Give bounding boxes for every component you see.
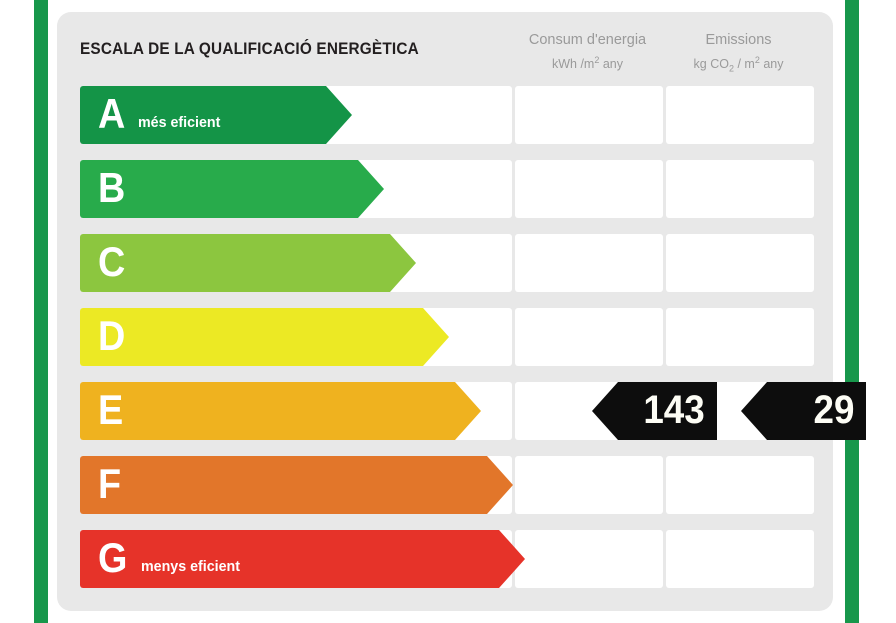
rating-letter-a: A [98, 93, 125, 135]
rating-row-b: B [57, 160, 833, 218]
rating-band-d[interactable]: D [80, 308, 449, 366]
cell-emiss-c [666, 234, 814, 292]
rating-band-a[interactable]: Amés eficient [80, 86, 352, 144]
cell-consum-g [515, 530, 663, 588]
rating-scale-rows: Amés eficientBCDE14329FGmenys eficient [57, 86, 833, 588]
cell-emiss-f [666, 456, 814, 514]
cell-consum-b [515, 160, 663, 218]
rating-band-c[interactable]: C [80, 234, 416, 292]
consumption-unit-prefix: kWh /m [552, 57, 594, 71]
consumption-value-marker: 143 [592, 382, 717, 440]
rating-row-d: D [57, 308, 833, 366]
column-header-emissions: Emissions kg CO2 / m2 any [663, 31, 814, 74]
rating-row-f: F [57, 456, 833, 514]
cell-consum-d [515, 308, 663, 366]
label-header: ESCALA DE LA QUALIFICACIÓ ENERGÈTICA Con… [57, 12, 833, 86]
right-green-stripe [845, 0, 859, 623]
left-green-stripe [34, 0, 48, 623]
rating-row-a: Amés eficient [57, 86, 833, 144]
emissions-value-text: 29 [813, 390, 854, 430]
scale-title: ESCALA DE LA QUALIFICACIÓ ENERGÈTICA [80, 40, 419, 59]
cell-consum-f [515, 456, 663, 514]
consumption-value-text: 143 [644, 390, 705, 430]
rating-letter-c: C [98, 241, 125, 283]
rating-letter-b: B [98, 167, 125, 209]
column-header-consumption: Consum d'energia kWh /m2 any [512, 31, 663, 73]
rating-band-g[interactable]: Gmenys eficient [80, 530, 525, 588]
rating-note-g: menys eficient [141, 558, 240, 575]
rating-note-a: més eficient [138, 114, 220, 131]
emissions-unit-prefix: kg CO [694, 57, 729, 71]
emissions-unit-suffix: any [763, 57, 783, 71]
rating-band-f[interactable]: F [80, 456, 513, 514]
rating-letter-f: F [98, 463, 121, 505]
rating-row-c: C [57, 234, 833, 292]
rating-letter-g: G [98, 537, 127, 579]
emissions-unit-mid: / m [737, 57, 754, 71]
consumption-unit-exponent: 2 [594, 55, 599, 65]
column-header-emissions-main: Emissions [663, 31, 814, 51]
rating-row-e: E14329 [57, 382, 833, 440]
emissions-unit-subscript: 2 [729, 63, 734, 73]
column-header-consumption-main: Consum d'energia [512, 31, 663, 51]
cell-emiss-d [666, 308, 814, 366]
cell-emiss-b [666, 160, 814, 218]
emissions-unit-exponent: 2 [755, 55, 760, 65]
energy-label-panel: ESCALA DE LA QUALIFICACIÓ ENERGÈTICA Con… [57, 12, 833, 611]
column-header-emissions-unit: kg CO2 / m2 any [663, 54, 814, 75]
column-header-consumption-unit: kWh /m2 any [512, 54, 663, 73]
cell-emiss-a [666, 86, 814, 144]
rating-band-b[interactable]: B [80, 160, 384, 218]
rating-letter-d: D [98, 315, 125, 357]
cell-consum-a [515, 86, 663, 144]
rating-row-g: Gmenys eficient [57, 530, 833, 588]
consumption-unit-suffix: any [603, 57, 623, 71]
rating-letter-e: E [98, 389, 123, 431]
rating-band-e[interactable]: E [80, 382, 481, 440]
emissions-value-marker: 29 [741, 382, 866, 440]
cell-consum-c [515, 234, 663, 292]
cell-emiss-g [666, 530, 814, 588]
